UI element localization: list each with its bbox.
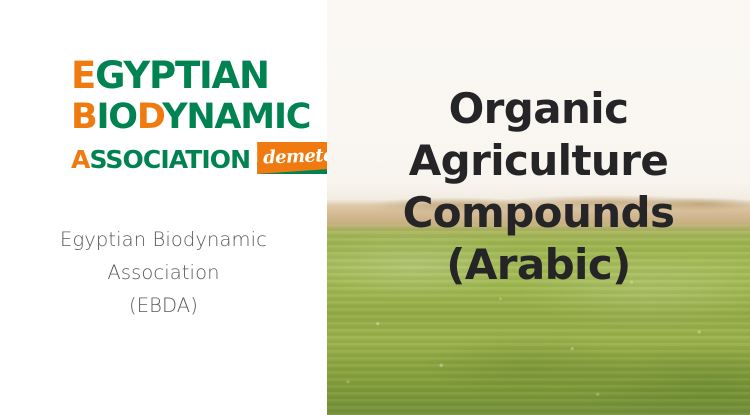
logo-line-egyptian: EGYPTIAN [71,57,297,94]
logo-text-gyptian: GYPTIAN [95,54,269,97]
ebda-logo: EGYPTIAN BIODYNAMIC ASSOCIATION demeter [71,57,297,172]
logo-letter-e: E [71,54,95,97]
logo-text-io: IO [96,97,136,137]
logo-line-biodynamic: BIODYNAMIC [71,100,297,135]
caption-line-3: (EBDA) [0,289,327,322]
logo-letter-d: D [137,97,162,137]
logo-text-ssociation: SSOCIATION [89,147,250,172]
title-line-1: Organic [327,83,750,135]
course-hero-panel: Organic Agriculture Compounds (Arabic) [327,0,750,415]
logo-text-ynamic: YNAMIC [162,97,310,137]
demeter-badge: demeter [257,142,297,174]
course-title-overlay: Organic Agriculture Compounds (Arabic) [327,0,750,415]
course-card: EGYPTIAN BIODYNAMIC ASSOCIATION demeter … [0,0,750,415]
logo-letter-b: B [71,97,96,137]
caption-line-1: Egyptian Biodynamic [0,223,327,256]
logo-letter-a: A [71,147,89,172]
caption-line-2: Association [0,256,327,289]
logo-line-association: ASSOCIATION demeter [71,142,297,172]
title-line-4: (Arabic) [327,239,750,291]
title-line-3: Compounds [327,187,750,239]
title-line-2: Agriculture [327,135,750,187]
organization-caption: Egyptian Biodynamic Association (EBDA) [0,223,327,322]
course-title: Organic Agriculture Compounds (Arabic) [327,83,750,291]
organization-panel: EGYPTIAN BIODYNAMIC ASSOCIATION demeter … [0,0,327,415]
